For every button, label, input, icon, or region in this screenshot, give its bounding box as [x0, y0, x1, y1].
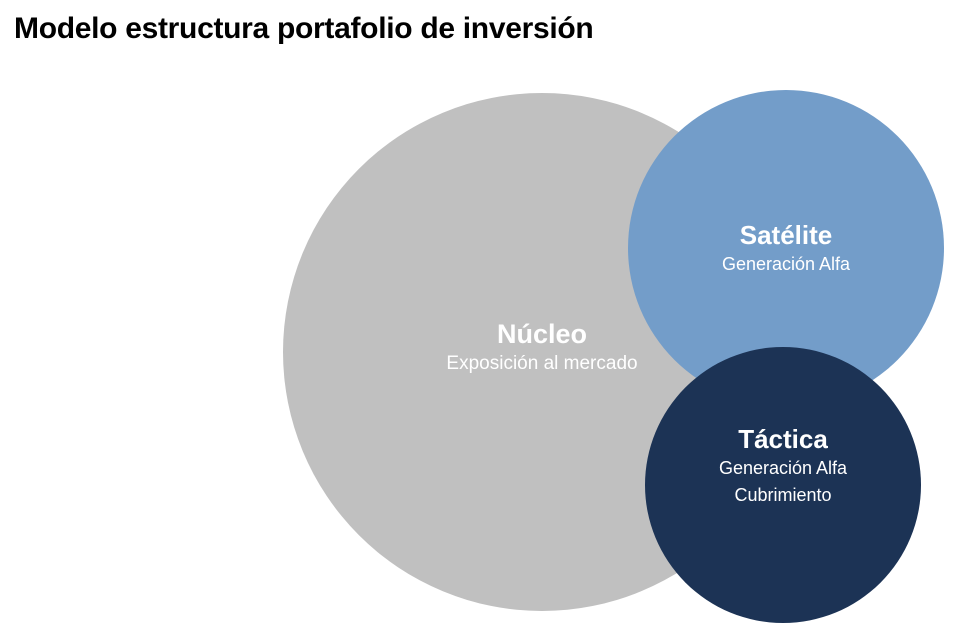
label-satelite: Satélite Generación Alfa	[722, 221, 850, 277]
circle-nucleo-subtitle-1: Exposición al mercado	[446, 352, 637, 377]
circle-tactica-title: Táctica	[719, 425, 847, 454]
circle-tactica-subtitle-1: Generación Alfa	[719, 457, 847, 480]
circle-satelite-title: Satélite	[722, 221, 850, 250]
label-tactica: Táctica Generación Alfa Cubrimiento	[719, 425, 847, 507]
circle-nucleo-title: Núcleo	[446, 319, 637, 349]
circle-tactica-subtitle-2: Cubrimiento	[719, 484, 847, 507]
venn-diagram: Núcleo Exposición al mercado Satélite Ge…	[0, 0, 955, 632]
slide-canvas: Modelo estructura portafolio de inversió…	[0, 0, 955, 632]
circle-satelite-subtitle-1: Generación Alfa	[722, 253, 850, 276]
label-nucleo: Núcleo Exposición al mercado	[446, 319, 637, 377]
